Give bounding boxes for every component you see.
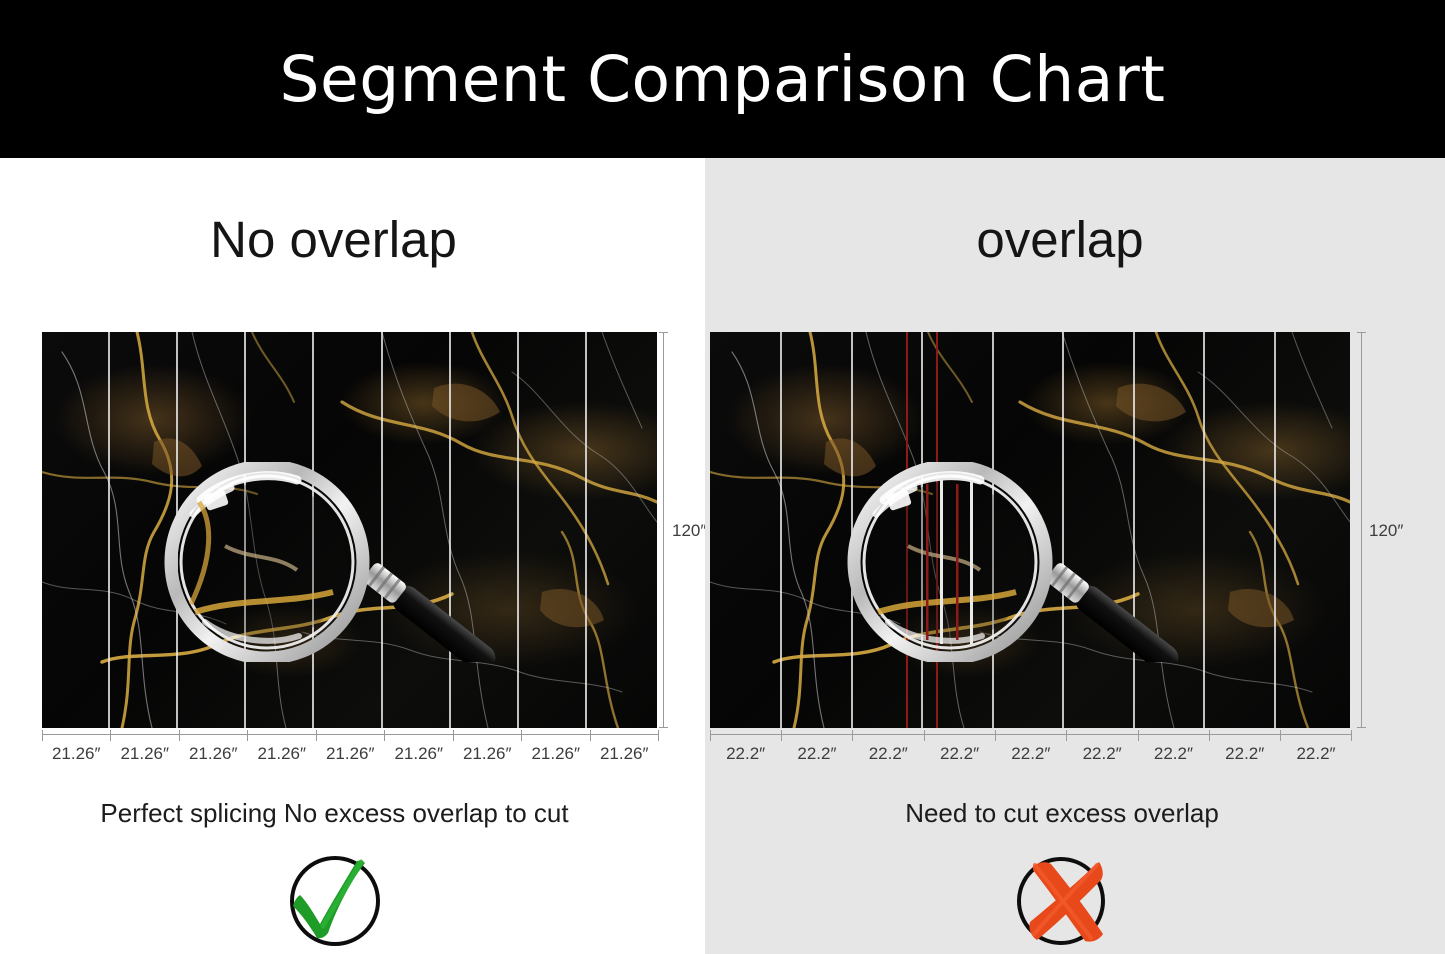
segment-divider: [312, 332, 314, 728]
segment-divider: [176, 332, 178, 728]
panel-title-overlap: overlap: [705, 214, 1445, 265]
segment-tick: [1138, 730, 1139, 741]
segment-width-label: 22.2″: [1066, 744, 1137, 764]
segment-width-label: 22.2″: [1209, 744, 1280, 764]
segment-tick: [247, 730, 248, 741]
page-title: Segment Comparison Chart: [280, 48, 1166, 111]
segment-width-label: 21.26″: [248, 744, 317, 764]
segment-tick: [42, 730, 43, 741]
segment-width-label: 22.2″: [1138, 744, 1209, 764]
segment-divider: [585, 332, 587, 728]
verdict-no-overlap: [0, 848, 705, 952]
segment-tick: [852, 730, 853, 741]
segment-width-label: 22.2″: [853, 744, 924, 764]
height-dimension-line: [663, 332, 664, 728]
segment-divider: [244, 332, 246, 728]
segment-comparison-chart: Segment Comparison Chart No overlap: [0, 0, 1445, 954]
segment-width-label: 21.26″: [385, 744, 454, 764]
segment-tick-marks: [42, 730, 659, 741]
panel-caption-overlap: Need to cut excess overlap: [705, 800, 1445, 826]
panel-no-overlap: No overlap: [0, 158, 705, 954]
panel-caption-no-overlap: Perfect splicing No excess overlap to cu…: [0, 800, 705, 826]
segment-width-label: 22.2″: [995, 744, 1066, 764]
segment-tick: [1209, 730, 1210, 741]
segment-tick: [384, 730, 385, 741]
segment-tick: [521, 730, 522, 741]
segment-width-label: 21.26″: [522, 744, 591, 764]
segment-tick: [590, 730, 591, 741]
segment-width-label: 21.26″: [111, 744, 180, 764]
segment-tick: [924, 730, 925, 741]
segment-width-label: 21.26″: [179, 744, 248, 764]
segment-tick: [453, 730, 454, 741]
segment-width-label: 22.2″: [1280, 744, 1351, 764]
segment-tick: [658, 730, 659, 741]
panel-title-no-overlap: No overlap: [0, 214, 705, 265]
overlap-excess-mark: [906, 332, 908, 728]
segment-tick: [1066, 730, 1067, 741]
segment-tick: [1280, 730, 1281, 741]
height-dimension-label: 120″: [672, 521, 706, 541]
segment-divider-lines: [42, 332, 657, 728]
marble-texture: [42, 332, 657, 728]
segment-width-labels: 22.2″ 22.2″ 22.2″ 22.2″ 22.2″ 22.2″ 22.2…: [710, 744, 1352, 764]
height-dimension-line: [1361, 332, 1362, 728]
segment-width-label: 21.26″: [590, 744, 659, 764]
marble-texture: [710, 332, 1350, 728]
segment-divider: [381, 332, 383, 728]
segment-divider: [108, 332, 110, 728]
segment-width-label: 21.26″: [453, 744, 522, 764]
marble-image-overlap: [710, 332, 1350, 728]
segment-tick: [179, 730, 180, 741]
segment-tick: [110, 730, 111, 741]
comparison-panels: No overlap: [0, 158, 1445, 954]
green-check-icon: [283, 848, 387, 952]
segment-width-label: 22.2″: [781, 744, 852, 764]
segment-tick: [1351, 730, 1352, 741]
verdict-overlap: [705, 848, 1445, 952]
segment-tick-marks: [710, 730, 1352, 741]
marble-image-no-overlap: [42, 332, 657, 728]
segment-width-labels: 21.26″ 21.26″ 21.26″ 21.26″ 21.26″ 21.26…: [42, 744, 659, 764]
segment-divider: [449, 332, 451, 728]
height-dimension-label: 120″: [1369, 521, 1403, 541]
segment-tick: [781, 730, 782, 741]
segment-width-label: 22.2″: [710, 744, 781, 764]
overlap-excess-marks: [710, 332, 1350, 728]
segment-tick: [710, 730, 711, 741]
segment-tick: [316, 730, 317, 741]
segment-width-label: 21.26″: [42, 744, 111, 764]
segment-divider: [517, 332, 519, 728]
segment-width-label: 21.26″: [316, 744, 385, 764]
panel-overlap: overlap: [705, 158, 1445, 954]
chart-header: Segment Comparison Chart: [0, 0, 1445, 158]
segment-width-label: 22.2″: [924, 744, 995, 764]
red-cross-icon: [1011, 848, 1115, 952]
segment-tick: [995, 730, 996, 741]
overlap-excess-mark: [936, 332, 938, 728]
